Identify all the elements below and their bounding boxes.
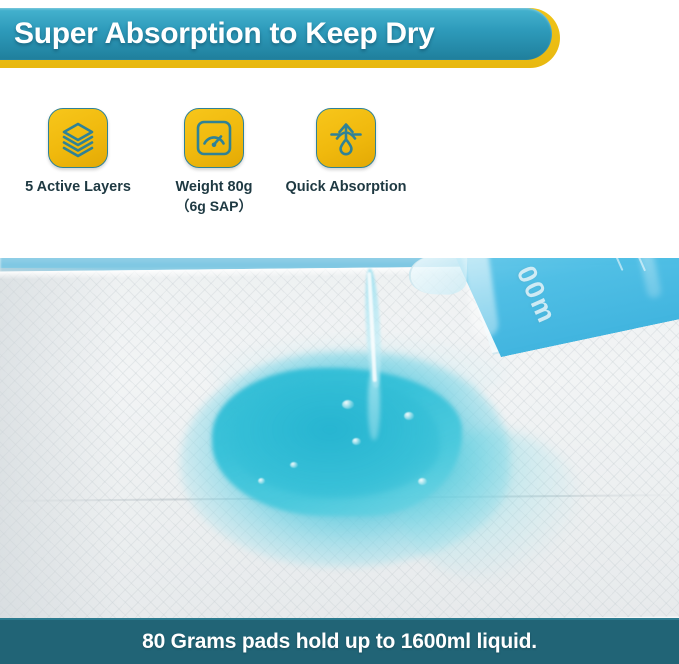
liquid-bubble bbox=[418, 478, 427, 485]
feature-label: 5 Active Layers bbox=[25, 178, 131, 197]
liquid-bubble bbox=[258, 478, 265, 484]
feature-item-active-layers: 5 Active Layers bbox=[18, 108, 138, 197]
feature-label: Weight 80g bbox=[175, 178, 252, 197]
absorption-droplet-arrow-icon bbox=[316, 108, 376, 168]
liquid-bubble bbox=[342, 400, 354, 409]
feature-list: 5 Active Layers Weight 80g （6g SAP） bbox=[0, 108, 440, 248]
header-banner: Super Absorption to Keep Dry bbox=[0, 8, 560, 68]
beaker-spout bbox=[408, 254, 467, 296]
footer-banner: 80 Grams pads hold up to 1600ml liquid. bbox=[0, 618, 679, 664]
footer-text: 80 Grams pads hold up to 1600ml liquid. bbox=[142, 630, 537, 654]
liquid-bubble bbox=[404, 412, 414, 420]
liquid-bubble bbox=[352, 438, 361, 445]
feature-label: Quick Absorption bbox=[285, 178, 406, 197]
product-infographic: 00m Super Absorption to Keep Dry 5 Act bbox=[0, 0, 679, 664]
feature-item-quick-absorption: Quick Absorption bbox=[276, 108, 416, 197]
liquid-bubble bbox=[290, 462, 298, 468]
page-title: Super Absorption to Keep Dry bbox=[14, 8, 435, 60]
gauge-weight-icon bbox=[184, 108, 244, 168]
feature-sublabel: （6g SAP） bbox=[175, 197, 252, 215]
feature-item-weight: Weight 80g （6g SAP） bbox=[155, 108, 273, 216]
layers-stack-icon bbox=[48, 108, 108, 168]
